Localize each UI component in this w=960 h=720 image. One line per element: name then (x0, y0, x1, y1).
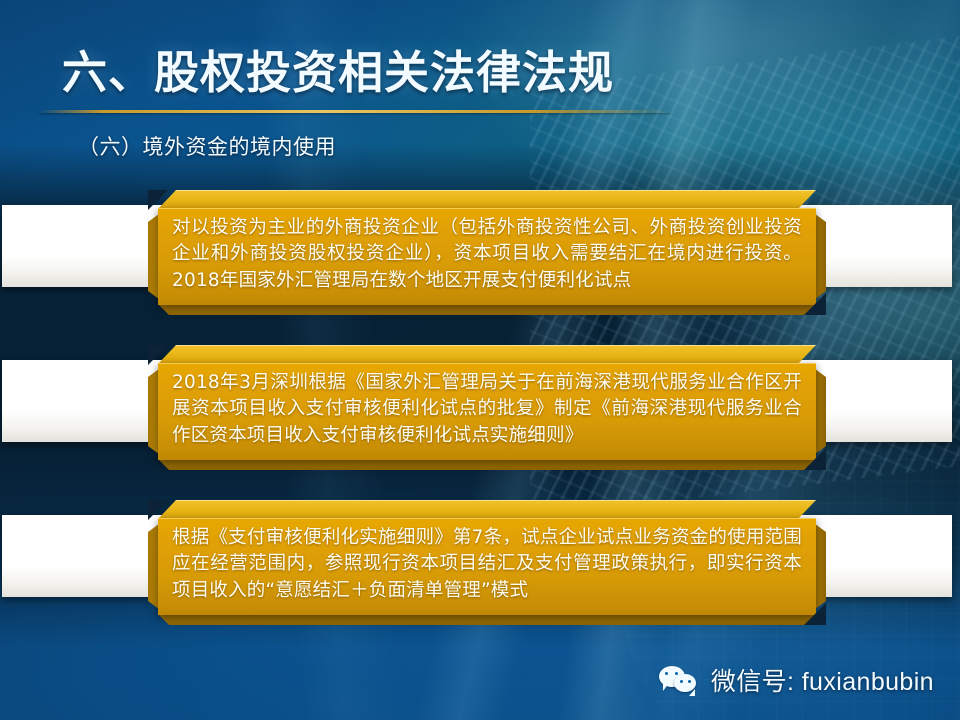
gold-text-wrap-2: 2018年3月深圳根据《国家外汇管理局关于在前海深港现代服务业合作区开展资本项目… (158, 363, 816, 460)
gold-bevel-bottom-2 (158, 459, 816, 470)
gold-bevel-top-2 (158, 345, 816, 364)
slide-subtitle: （六）境外资金的境内使用 (78, 131, 336, 161)
wechat-tail-front (689, 689, 695, 696)
watermark-text: 微信号: fuxianbubin (711, 662, 934, 698)
gold-callout-box-2: 2018年3月深圳根据《国家外汇管理局关于在前海深港现代服务业合作区开展资本项目… (148, 345, 826, 470)
gold-callout-box-3: 根据《支付审核便利化实施细则》第7条，试点企业试点业务资金的使用范围应在经营范围… (148, 500, 826, 625)
content-text-3: 根据《支付审核便利化实施细则》第7条，试点企业试点业务资金的使用范围应在经营范围… (172, 525, 802, 604)
title-divider-rule (40, 110, 670, 113)
content-text-2: 2018年3月深圳根据《国家外汇管理局关于在前海深港现代服务业合作区开展资本项目… (172, 370, 802, 449)
content-text-1: 对以投资为主业的外商投资企业（包括外商投资性公司、外商投资创业投资企业和外商投资… (172, 215, 802, 294)
gold-bevel-bottom-1 (158, 304, 816, 315)
gold-callout-box-1: 对以投资为主业的外商投资企业（包括外商投资性公司、外商投资创业投资企业和外商投资… (148, 190, 826, 315)
watermark: 微信号: fuxianbubin (659, 662, 934, 698)
gold-bevel-bottom-3 (158, 614, 816, 625)
gold-bevel-top-1 (158, 190, 816, 209)
wechat-tail-back (663, 683, 669, 691)
wechat-icon (659, 665, 701, 695)
slide-canvas: 六、股权投资相关法律法规 （六）境外资金的境内使用 对以投资为主业的外商投资企业… (0, 0, 960, 720)
gold-text-wrap-3: 根据《支付审核便利化实施细则》第7条，试点企业试点业务资金的使用范围应在经营范围… (158, 518, 816, 615)
gold-text-wrap-1: 对以投资为主业的外商投资企业（包括外商投资性公司、外商投资创业投资企业和外商投资… (158, 208, 816, 305)
gold-bevel-top-3 (158, 500, 816, 519)
slide-title: 六、股权投资相关法律法规 (62, 36, 614, 101)
